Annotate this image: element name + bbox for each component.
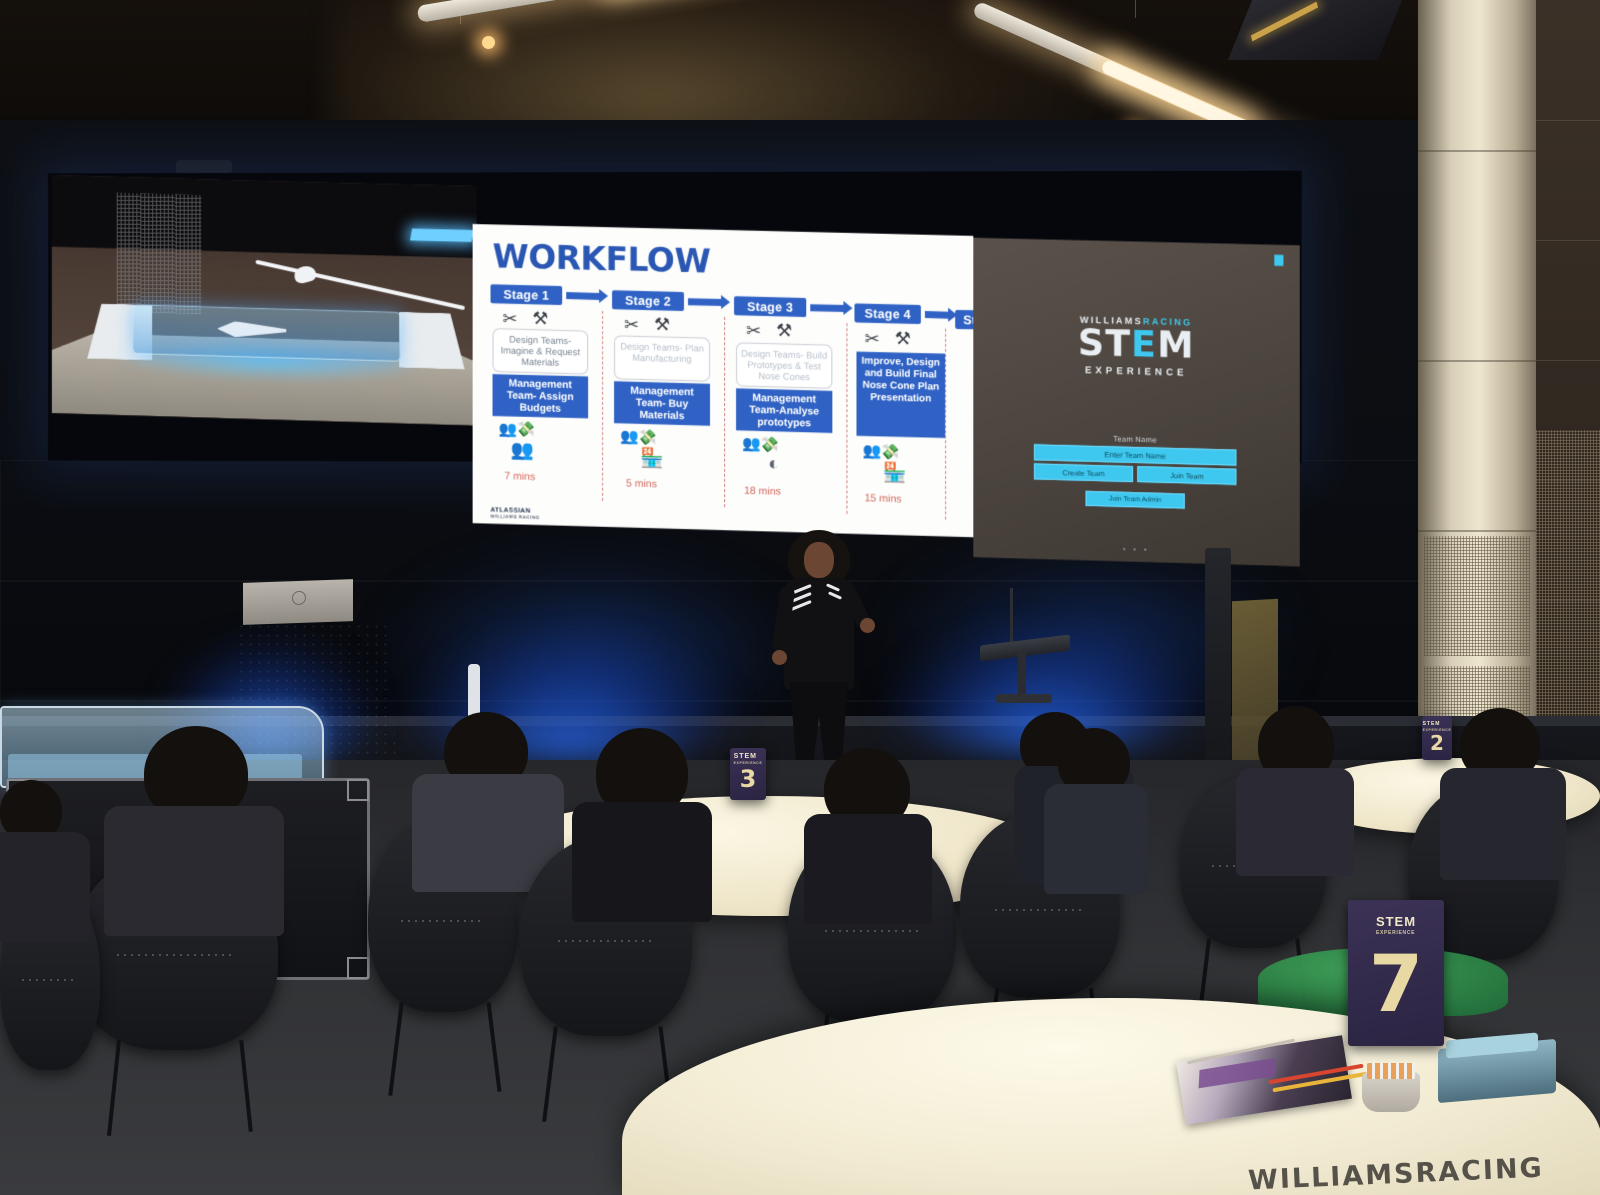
stage-chip-4: Stage 4 — [854, 303, 920, 324]
people-group-icon-1: 👥💸 — [498, 420, 535, 439]
column-mesh-panel — [1424, 536, 1530, 656]
stem-app-panel: WILLIAMSRACING STEM EXPERIENCE Team Name… — [973, 238, 1299, 567]
duration-3: 18 mins — [744, 485, 781, 498]
feed-nose-cone — [293, 264, 318, 284]
feed-guide-rod — [255, 260, 465, 310]
table-number-7: 7 — [1369, 946, 1423, 1024]
audience-member — [1440, 708, 1566, 862]
presenter-face — [804, 542, 834, 578]
table-branding-text: WILLIAMSRACING — [1248, 1153, 1545, 1195]
laptop-on-lectern — [243, 579, 353, 625]
management-task-1: Management Team- Assign Budgets — [493, 374, 589, 418]
team-form: Team Name Enter Team Name Create Team Jo… — [1034, 432, 1237, 510]
stem-logo: STEM EXPERIENCE — [1376, 914, 1416, 936]
shop-icon-2: 🏪 — [640, 446, 664, 471]
audience-member — [0, 780, 86, 930]
table-number-3: 3 — [740, 767, 757, 791]
audience-member — [96, 726, 286, 916]
pie-chart-icon: ◐ — [768, 453, 780, 475]
pendant-wire — [1135, 0, 1136, 18]
duration-1: 7 mins — [504, 470, 535, 483]
design-task-3: Design Teams- Build Prototypes & Test No… — [736, 342, 832, 389]
stage-chip-3: Stage 3 — [734, 296, 806, 317]
stem-logo-small: STEM EXPERIENCE — [734, 753, 763, 765]
presenter — [760, 530, 880, 770]
column-divider — [602, 311, 603, 501]
create-team-button[interactable]: Create Team — [1034, 463, 1133, 482]
join-team-admin-button[interactable]: Join Team Admin — [1085, 491, 1184, 509]
monitor-base — [996, 694, 1052, 703]
presenter-hand-right — [860, 618, 875, 633]
stage-arrow-4 — [925, 311, 949, 319]
column-divider — [724, 317, 725, 507]
table-card-3: STEM EXPERIENCE 3 — [730, 748, 766, 800]
tools-icon: ✂ — [624, 316, 639, 334]
monitor-pole — [1018, 652, 1026, 700]
audience-member — [1236, 706, 1356, 856]
column-divider — [945, 329, 946, 520]
column-divider — [846, 323, 847, 514]
workflow-slide: WORKFLOW Stage 1 Stage 2 Stage 3 Stage 4… — [473, 224, 974, 537]
feed-mesh-wall — [117, 193, 202, 314]
management-task-2: Management Team- Buy Materials — [614, 381, 710, 426]
management-task-4: Improve, Design and Build Final Nose Con… — [856, 351, 945, 438]
laptop-brand-logo — [292, 591, 306, 605]
table-card-7: STEM EXPERIENCE 7 — [1348, 900, 1444, 1046]
ceiling-light-strip — [1251, 2, 1318, 42]
paint-roller-icon: ⚒ — [654, 315, 670, 333]
slide-title: WORKFLOW — [493, 236, 711, 280]
people-group-icon-4: 👥💸 — [863, 442, 901, 461]
brand-stem-wordmark: STEM — [973, 322, 1299, 368]
duration-4: 15 mins — [865, 492, 902, 505]
shop-icon-4: 🏪 — [883, 461, 907, 486]
audience-member — [804, 748, 932, 908]
audience-member — [1040, 728, 1136, 868]
architectural-column — [1418, 0, 1536, 720]
audience-member — [412, 712, 562, 872]
markers — [1367, 1063, 1415, 1079]
tools-icon: ✂ — [502, 309, 517, 327]
stage-chip-2: Stage 2 — [612, 290, 684, 311]
ceiling-speaker — [176, 160, 232, 174]
people-group-icon-2: 👥💸 — [620, 427, 657, 446]
ceiling-fixture — [1228, 0, 1402, 60]
foam-block — [1438, 1039, 1556, 1103]
discussion-icon: 👥 — [510, 438, 534, 463]
stage-chip-1: Stage 1 — [491, 284, 563, 305]
team-name-input[interactable]: Enter Team Name — [1034, 444, 1237, 465]
projection-screen: WORKFLOW Stage 1 Stage 2 Stage 3 Stage 4… — [48, 171, 1302, 464]
tools-icon: ✂ — [746, 322, 761, 340]
people-group-icon-3: 👥💸 — [742, 435, 779, 454]
stem-brand-lockup: WILLIAMSRACING STEM EXPERIENCE — [973, 312, 1299, 381]
audience-member — [566, 728, 706, 898]
stage-chip-5: Stage 5 — [955, 310, 973, 331]
tools-icon: ✂ — [865, 330, 880, 348]
atlassian-williams-logo: ATLASSIAN WILLIAMS RACING — [491, 507, 540, 520]
paint-roller-icon: ⚒ — [776, 321, 792, 339]
pa-speaker — [1205, 548, 1231, 762]
duration-2: 5 mins — [626, 477, 657, 490]
app-cursor-indicator — [1274, 255, 1283, 266]
live-camera-feed — [52, 175, 477, 425]
presenter-hand-left — [772, 650, 787, 665]
paint-roller-icon: ⚒ — [532, 309, 548, 327]
feed-led-strip — [410, 229, 474, 243]
app-pager-dots: • • • — [973, 542, 1299, 558]
design-task-2: Design Teams- Plan Manufacturing — [614, 335, 710, 381]
photo-scene: WORKFLOW Stage 1 Stage 2 Stage 3 Stage 4… — [0, 0, 1600, 1195]
join-team-button[interactable]: Join Team — [1137, 466, 1237, 485]
marker-cup — [1362, 1072, 1420, 1112]
pendant-bulb — [482, 36, 495, 49]
stage-arrow-3 — [810, 304, 844, 312]
design-task-1: Design Teams- Imagine & Request Material… — [493, 328, 589, 374]
paint-roller-icon: ⚒ — [895, 329, 911, 347]
stage-arrow-1 — [566, 292, 600, 300]
stage-arrow-2 — [688, 298, 722, 306]
management-task-3: Management Team-Analyse prototypes — [736, 388, 832, 433]
